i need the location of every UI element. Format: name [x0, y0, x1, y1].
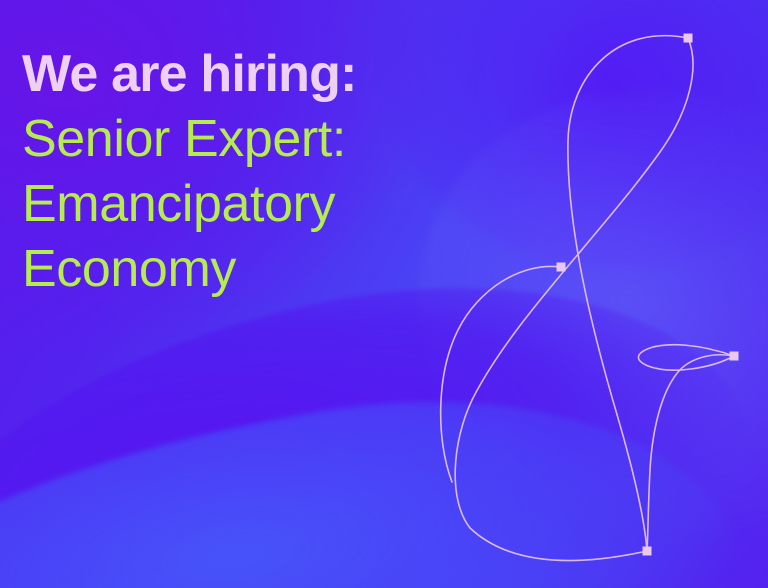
curve-segment-5	[647, 355, 734, 551]
headline-role-line-3: Economy	[22, 237, 357, 302]
curve-segment-1	[568, 36, 688, 551]
curve-path-group	[441, 36, 734, 561]
node-mid-left-marker	[557, 263, 566, 272]
node-bottom-marker	[643, 547, 652, 556]
node-top-marker	[684, 34, 693, 43]
hiring-banner: We are hiring: Senior Expert: Emancipato…	[0, 0, 768, 588]
curve-segment-3	[441, 266, 561, 482]
node-right-marker	[730, 352, 739, 361]
headline-block: We are hiring: Senior Expert: Emancipato…	[22, 42, 357, 302]
headline-role-line-2: Emancipatory	[22, 172, 357, 237]
headline-role-line-1: Senior Expert:	[22, 107, 357, 172]
headline-eyebrow: We are hiring:	[22, 42, 357, 107]
curve-segment-4	[638, 345, 734, 370]
curve-segment-2	[455, 38, 693, 561]
curve-node-group	[557, 34, 739, 556]
